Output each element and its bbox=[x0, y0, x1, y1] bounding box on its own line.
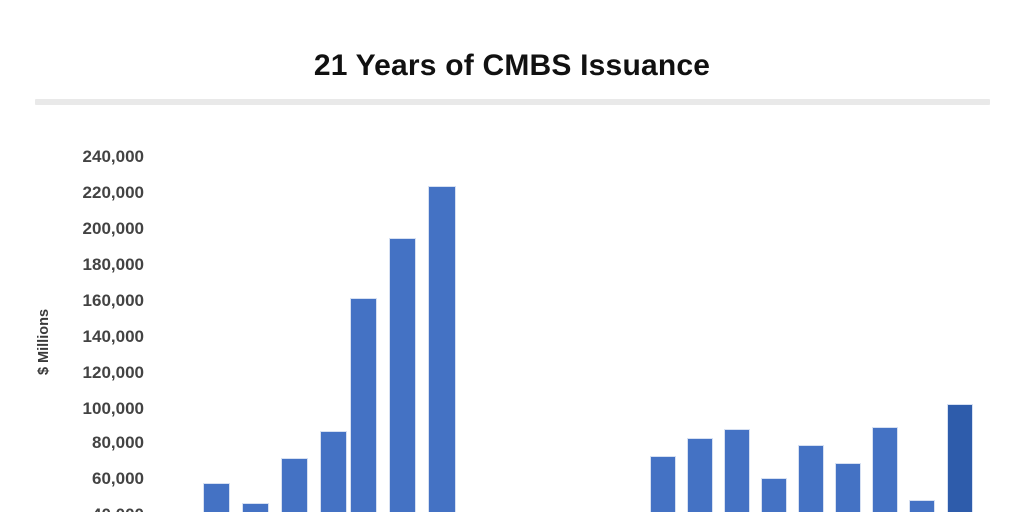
bar-2[interactable] bbox=[242, 503, 269, 512]
bar-14[interactable] bbox=[872, 427, 898, 512]
bar-7[interactable] bbox=[428, 186, 456, 512]
bar-15[interactable] bbox=[909, 500, 935, 512]
bar-4[interactable] bbox=[320, 431, 347, 512]
bar-5[interactable] bbox=[350, 298, 377, 512]
bar-8[interactable] bbox=[650, 456, 676, 512]
bar-11[interactable] bbox=[761, 478, 787, 512]
plot-area: $ Millions 240,000220,000200,000180,0001… bbox=[0, 0, 1024, 512]
bar-10[interactable] bbox=[724, 429, 750, 512]
bar-6[interactable] bbox=[389, 238, 416, 512]
bar-1[interactable] bbox=[203, 483, 230, 512]
chart-page: 21 Years of CMBS Issuance $ Millions 240… bbox=[0, 0, 1024, 512]
bar-13[interactable] bbox=[835, 463, 861, 512]
bar-9[interactable] bbox=[687, 438, 713, 512]
bar-16[interactable] bbox=[947, 404, 973, 512]
bar-12[interactable] bbox=[798, 445, 824, 512]
bar-series bbox=[0, 0, 1024, 512]
bar-3[interactable] bbox=[281, 458, 308, 512]
